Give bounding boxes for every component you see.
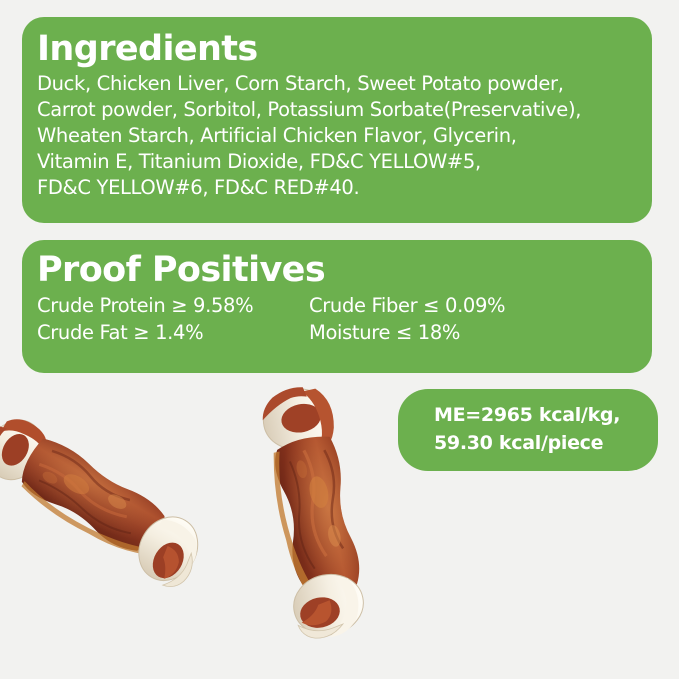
ingredient-line: Carrot powder, Sorbitol, Potassium Sorba… [37,97,636,123]
dog-chew-treat-left [0,393,228,603]
proof-positives-grid: Crude Protein ≥ 9.58% Crude Fat ≥ 1.4% C… [37,292,636,346]
proof-column-left: Crude Protein ≥ 9.58% Crude Fat ≥ 1.4% [37,292,309,346]
ingredient-line: Wheaten Starch, Artificial Chicken Flavo… [37,123,636,149]
ingredient-line: Duck, Chicken Liver, Corn Starch, Sweet … [37,71,636,97]
label-page: Ingredients Duck, Chicken Liver, Corn St… [0,0,679,679]
metabolizable-energy-panel: ME=2965 kcal/kg, 59.30 kcal/piece [398,389,658,471]
ingredient-line: FD&C YELLOW#6, FD&C RED#40. [37,175,636,201]
me-line-2: 59.30 kcal/piece [434,429,658,457]
proof-positives-panel: Proof Positives Crude Protein ≥ 9.58% Cr… [22,240,652,373]
proof-positives-title: Proof Positives [37,250,636,290]
me-line-1: ME=2965 kcal/kg, [434,401,658,429]
proof-item-crude-fiber: Crude Fiber ≤ 0.09% [309,292,609,319]
proof-column-right: Crude Fiber ≤ 0.09% Moisture ≤ 18% [309,292,609,346]
proof-item-crude-protein: Crude Protein ≥ 9.58% [37,292,309,319]
ingredients-list: Duck, Chicken Liver, Corn Starch, Sweet … [37,71,636,201]
proof-item-crude-fat: Crude Fat ≥ 1.4% [37,319,309,346]
ingredients-panel: Ingredients Duck, Chicken Liver, Corn St… [22,17,652,223]
ingredients-title: Ingredients [37,29,636,69]
ingredient-line: Vitamin E, Titanium Dioxide, FD&C YELLOW… [37,149,636,175]
proof-item-moisture: Moisture ≤ 18% [309,319,609,346]
dog-chew-treat-right [243,380,391,650]
